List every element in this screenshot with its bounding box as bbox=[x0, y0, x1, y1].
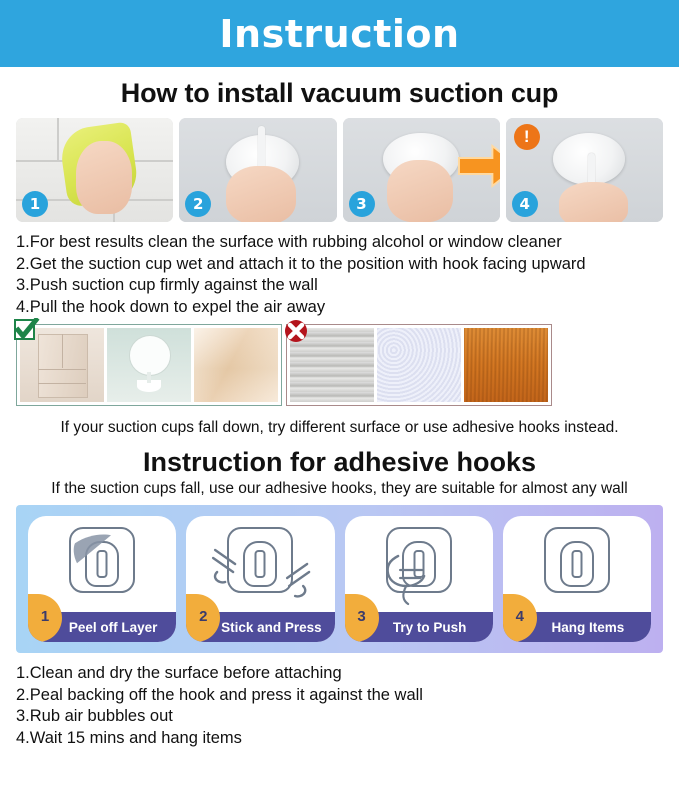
step-number-badge: 1 bbox=[22, 191, 48, 217]
suction-instruction-list: 1.For best results clean the surface wit… bbox=[0, 222, 679, 318]
cross-icon bbox=[282, 318, 310, 344]
surface-comparison bbox=[0, 318, 679, 406]
suction-step-panel-2: 2 bbox=[179, 118, 336, 222]
surface-smooth-tile bbox=[194, 328, 278, 402]
surface-stucco-wall bbox=[377, 328, 461, 402]
list-item: 1.For best results clean the surface wit… bbox=[16, 232, 663, 254]
list-item: 2.Peal backing off the hook and press it… bbox=[16, 685, 663, 707]
banner-title: Instruction bbox=[219, 12, 459, 56]
adhesive-instruction-list: 1.Clean and dry the surface before attac… bbox=[0, 653, 679, 749]
suction-step-panel-1: 1 bbox=[16, 118, 173, 222]
suction-step-photo-strip: 1 2 3 ! 4 bbox=[0, 118, 679, 222]
adhesive-card-2: 2 Stick and Press bbox=[186, 516, 334, 642]
section1-heading: How to install vacuum suction cup bbox=[0, 78, 679, 109]
warning-icon: ! bbox=[514, 124, 540, 150]
hand-wiping bbox=[76, 141, 133, 214]
adhesive-steps-panel: 1 Peel off Layer 2 Stick and Press bbox=[16, 505, 663, 653]
adhesive-card-1: 1 Peel off Layer bbox=[28, 516, 176, 642]
hand-holding-cup bbox=[226, 166, 295, 222]
suitable-surfaces-group bbox=[16, 324, 282, 406]
adhesive-card-4: 4 Hang Items bbox=[503, 516, 651, 642]
list-item: 2.Get the suction cup wet and attach it … bbox=[16, 254, 663, 276]
step-number-badge: 4 bbox=[512, 191, 538, 217]
adhesive-card-3: 3 Try to Push bbox=[345, 516, 493, 642]
list-item: 1.Clean and dry the surface before attac… bbox=[16, 663, 663, 685]
step-number-badge: 3 bbox=[349, 191, 375, 217]
suction-step-panel-3: 3 bbox=[343, 118, 500, 222]
surface-mirror-sink bbox=[107, 328, 191, 402]
section2-subheading: If the suction cups fall, use our adhesi… bbox=[0, 480, 679, 498]
peeling-film-icon bbox=[71, 529, 133, 591]
hand-pushing-cup bbox=[387, 160, 453, 222]
list-item: 3.Rub air bubbles out bbox=[16, 706, 663, 728]
unsuitable-surfaces-group bbox=[286, 324, 552, 406]
page-banner: Instruction bbox=[0, 0, 679, 67]
list-item: 4.Wait 15 mins and hang items bbox=[16, 728, 663, 750]
check-icon bbox=[12, 318, 40, 344]
suction-step-panel-4: ! 4 bbox=[506, 118, 663, 222]
list-item: 4.Pull the hook down to expel the air aw… bbox=[16, 297, 663, 319]
list-item: 3.Push suction cup firmly against the wa… bbox=[16, 275, 663, 297]
surface-rough-wood bbox=[464, 328, 548, 402]
surface-note: If your suction cups fall down, try diff… bbox=[0, 419, 679, 437]
section2-heading: Instruction for adhesive hooks bbox=[0, 447, 679, 478]
hand-pulling-hook bbox=[559, 182, 628, 222]
